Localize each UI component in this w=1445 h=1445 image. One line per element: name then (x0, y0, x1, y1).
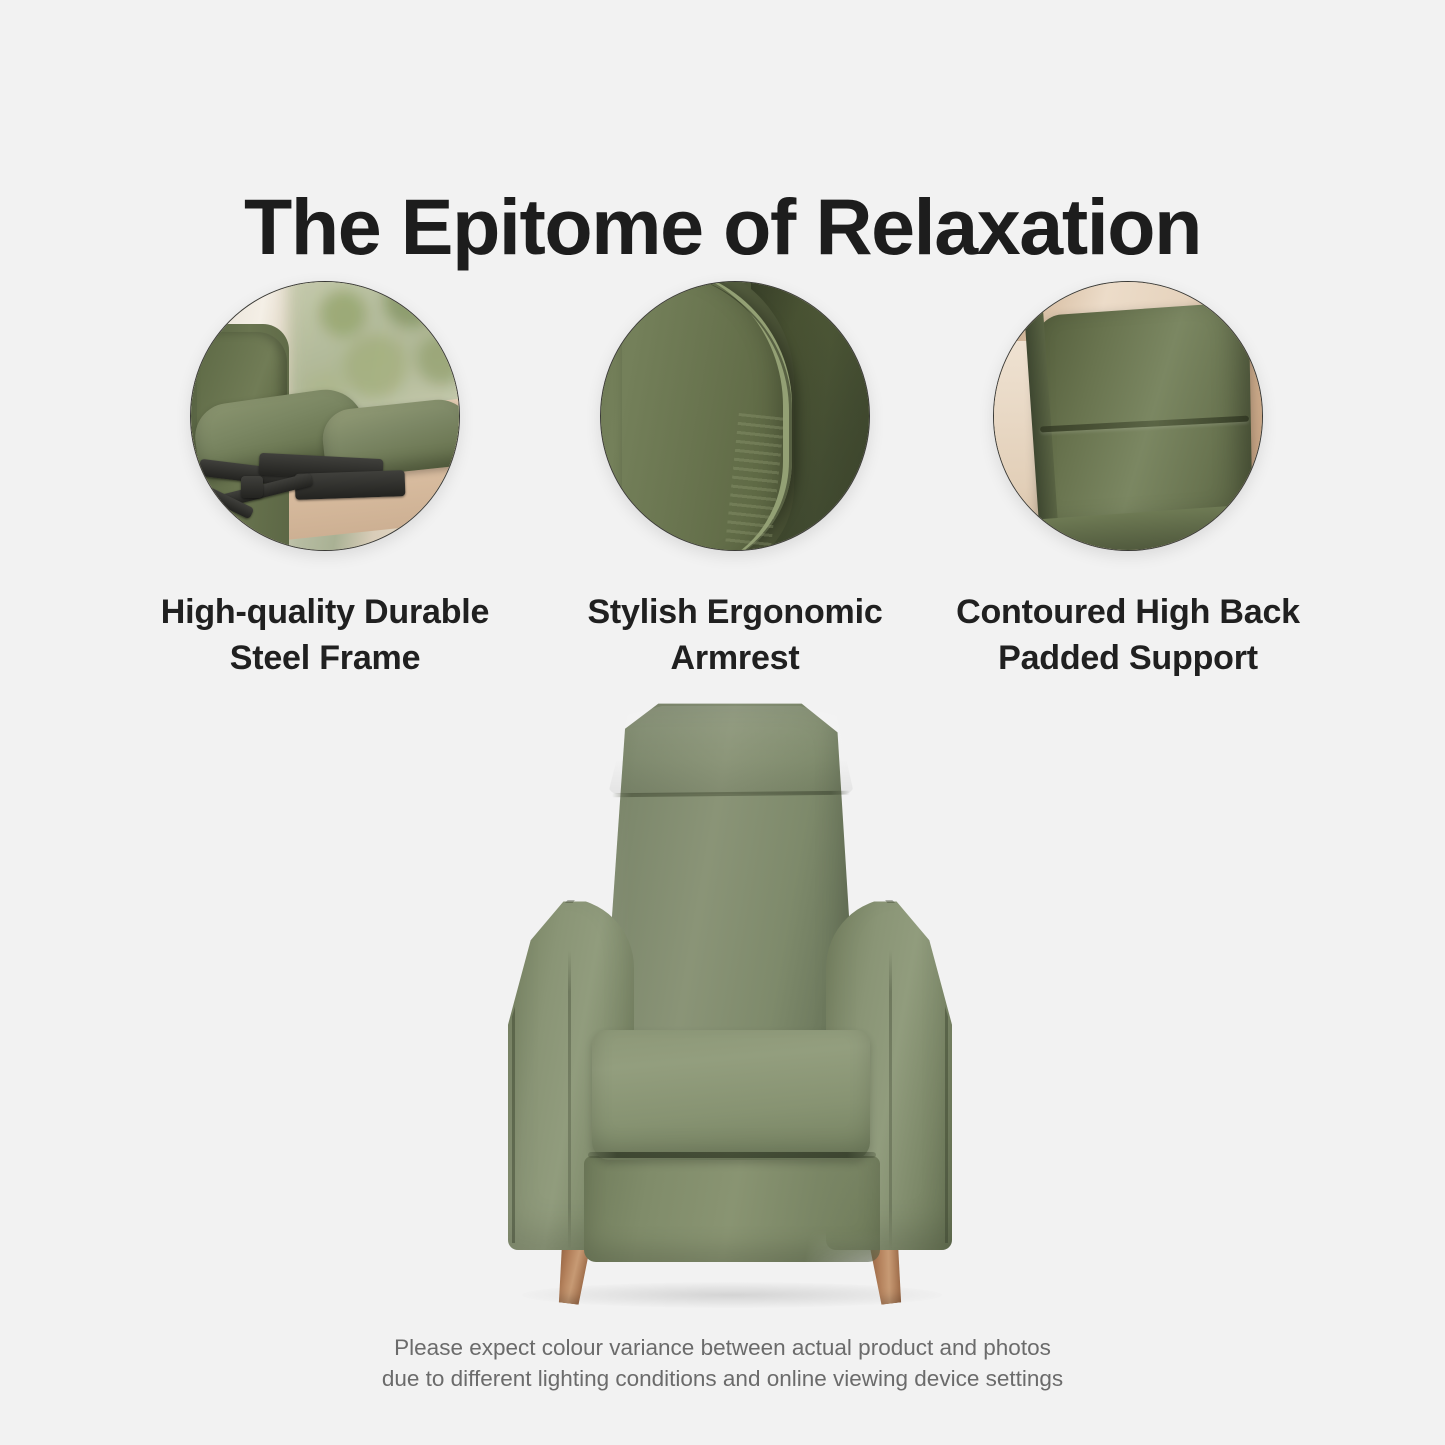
feature-image-steel-frame (190, 281, 460, 551)
arm-side-shade-left (568, 950, 571, 1250)
feature-image-ergonomic-armrest (600, 281, 870, 551)
caption-line-1: High-quality Durable (161, 593, 489, 631)
disclaimer-line-1: Please expect colour variance between ac… (0, 1332, 1445, 1363)
caption-line-1: Stylish Ergonomic (587, 593, 882, 631)
caption-line-2: Steel Frame (230, 639, 421, 677)
chair-base-skirt (584, 1156, 880, 1262)
feature-item-ergonomic-armrest: Stylish Ergonomic Armrest (555, 281, 915, 681)
chair-seat-cushion (592, 1030, 870, 1160)
seat-front-seam (588, 1152, 876, 1158)
hero-product-image (500, 700, 960, 1310)
feature-item-high-back-support: Contoured High Back Padded Support (948, 281, 1308, 681)
chair-headrest-panel (608, 706, 854, 794)
caption-line-1: Contoured High Back (956, 593, 1300, 631)
caption-line-2: Armrest (671, 639, 800, 677)
arm-side-shade-right (889, 950, 892, 1250)
colour-variance-disclaimer: Please expect colour variance between ac… (0, 1332, 1445, 1394)
feature-highlights-row: High-quality Durable Steel Frame Stylish… (0, 281, 1445, 701)
feature-caption-high-back-support: Contoured High Back Padded Support (948, 589, 1308, 681)
disclaimer-line-2: due to different lighting conditions and… (0, 1363, 1445, 1394)
feature-caption-steel-frame: High-quality Durable Steel Frame (145, 589, 505, 681)
caption-line-2: Padded Support (998, 639, 1258, 677)
page-title: The Epitome of Relaxation (0, 181, 1445, 273)
feature-item-steel-frame: High-quality Durable Steel Frame (145, 281, 505, 681)
feature-image-high-back-support (993, 281, 1263, 551)
product-feature-banner: The Epitome of Relaxation (0, 0, 1445, 1445)
steel-mechanism (199, 450, 399, 526)
feature-caption-ergonomic-armrest: Stylish Ergonomic Armrest (555, 589, 915, 681)
